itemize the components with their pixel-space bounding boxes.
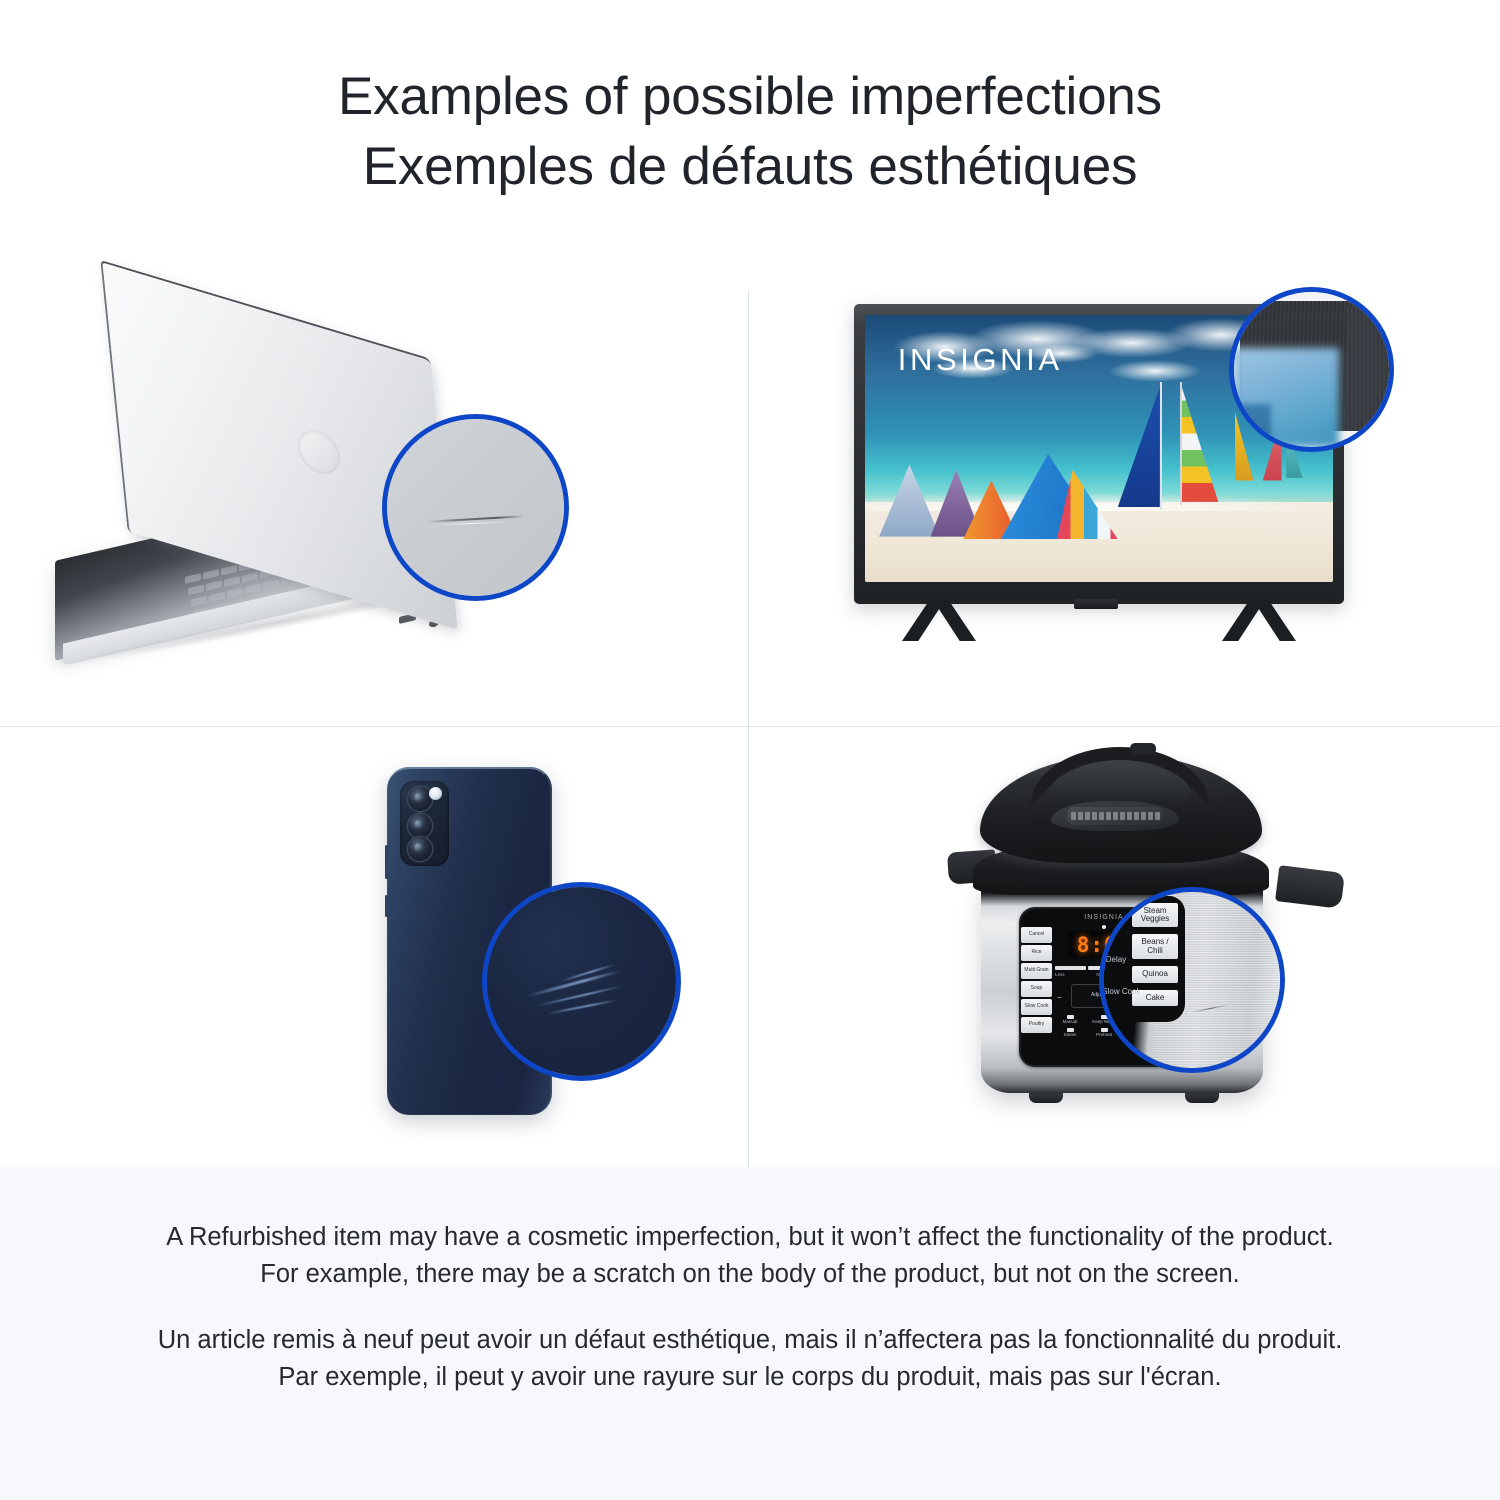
magnified-lid-surface: [387, 419, 564, 596]
sailboat-mast: [1180, 382, 1182, 505]
cooker-lid-vent-panel: [1067, 807, 1163, 825]
magnified-bezel-side: [1347, 306, 1386, 430]
keyboard-key: [245, 583, 261, 594]
footer-paragraph-english: A Refurbished item may have a cosmetic i…: [150, 1219, 1350, 1293]
cooker-pressure-valve: [1130, 743, 1156, 755]
keyboard-key: [227, 587, 243, 598]
camera-lens-icon: [408, 814, 432, 838]
cooker-button[interactable]: Steam: [1055, 1028, 1085, 1038]
lid-vent-slit: [1120, 812, 1125, 820]
example-cell-smartphone: [0, 727, 748, 1167]
cooker-left-button-column[interactable]: CancelRiceMulti GrainSoupSlow CookPoultr…: [1021, 927, 1052, 1033]
lid-vent-slit: [1127, 812, 1132, 820]
phone-volume-button: [385, 845, 388, 879]
keyboard-key: [191, 596, 207, 607]
lid-vent-slit: [1106, 812, 1111, 820]
cooker-button[interactable]: Cancel: [1021, 927, 1052, 943]
sailboat-mast: [1160, 382, 1162, 510]
keyboard-key: [224, 576, 240, 587]
cooker-minus-button[interactable]: −: [1057, 993, 1062, 1002]
magnified-cooker-button: Quinoa: [1132, 966, 1178, 982]
magnified-dim-label-slowcook: Slow Cook: [1102, 987, 1140, 996]
magnifier-circle-laptop: [382, 414, 569, 601]
insignia-logo-text: INSIGNIA: [898, 342, 1063, 378]
examples-grid: INSIGNIA: [0, 253, 1500, 1167]
magnifier-circle-smartphone: [482, 882, 681, 1081]
phone-camera-module: [400, 781, 449, 866]
phone-power-button: [385, 895, 388, 917]
lid-vent-slit: [1071, 812, 1076, 820]
slider-label: Less: [1055, 972, 1065, 977]
cooker-button[interactable]: Multi Grain: [1021, 963, 1052, 979]
page-title-french: Exemples de défauts esthétiques: [0, 132, 1500, 202]
television-image: INSIGNIA: [854, 281, 1394, 681]
keyboard-key: [206, 580, 222, 591]
magnifier-circle-pressure-cooker: Steam VeggiesBeans / ChiliQuinoaCake Del…: [1099, 887, 1285, 1073]
keyboard-key: [188, 584, 204, 595]
lid-vent-slit: [1085, 812, 1090, 820]
slider-segment[interactable]: [1055, 966, 1086, 970]
example-cell-pressure-cooker: INSIGNIA 8:00 CancelRiceMulti GrainSoupS…: [749, 727, 1500, 1167]
keyboard-key: [242, 572, 258, 583]
magnified-screen-area-lower: [1237, 404, 1271, 447]
keyboard-key: [263, 579, 279, 590]
laptop-image: [55, 298, 695, 678]
cooker-button[interactable]: Poultry: [1021, 1017, 1052, 1033]
camera-flash-icon: [429, 787, 442, 800]
tv-leg: [1074, 599, 1118, 609]
lid-vent-slit: [1155, 812, 1160, 820]
example-cell-laptop: [0, 253, 748, 726]
camera-lens-icon: [408, 837, 432, 861]
lid-vent-slit: [1141, 812, 1146, 820]
cooker-button[interactable]: Rice: [1021, 945, 1052, 961]
tv-leg: [1222, 599, 1296, 641]
cooker-button[interactable]: Soup: [1021, 981, 1052, 997]
magnified-dim-label-delay: Delay: [1106, 955, 1126, 964]
lid-vent-slit: [1078, 812, 1083, 820]
smartphone-image: [330, 749, 630, 1149]
lid-vent-slit: [1113, 812, 1118, 820]
cooker-side-handle-right: [1275, 865, 1345, 909]
magnified-cooker-button: Beans / Chili: [1132, 934, 1178, 959]
keyboard-key: [209, 592, 225, 603]
lid-vent-slit: [1099, 812, 1104, 820]
example-cell-television: INSIGNIA: [749, 253, 1500, 726]
magnifier-circle-television: [1229, 287, 1394, 452]
lid-vent-slit: [1148, 812, 1153, 820]
cooker-button[interactable]: Manual: [1055, 1015, 1085, 1025]
pressure-cooker-image: INSIGNIA 8:00 CancelRiceMulti GrainSoupS…: [945, 741, 1345, 1151]
footer-paragraph-french: Un article remis à neuf peut avoir un dé…: [150, 1322, 1350, 1396]
cooker-button[interactable]: Slow Cook: [1021, 999, 1052, 1015]
lid-vent-slit: [1092, 812, 1097, 820]
footer-description: A Refurbished item may have a cosmetic i…: [0, 1167, 1500, 1500]
cloud-shape: [1108, 360, 1202, 381]
page-header: Examples of possible imperfections Exemp…: [0, 0, 1500, 202]
magnified-cooker-button: Steam Veggies: [1132, 903, 1178, 928]
tv-leg: [902, 599, 976, 641]
lid-vent-slit: [1134, 812, 1139, 820]
page-title-english: Examples of possible imperfections: [0, 62, 1500, 132]
